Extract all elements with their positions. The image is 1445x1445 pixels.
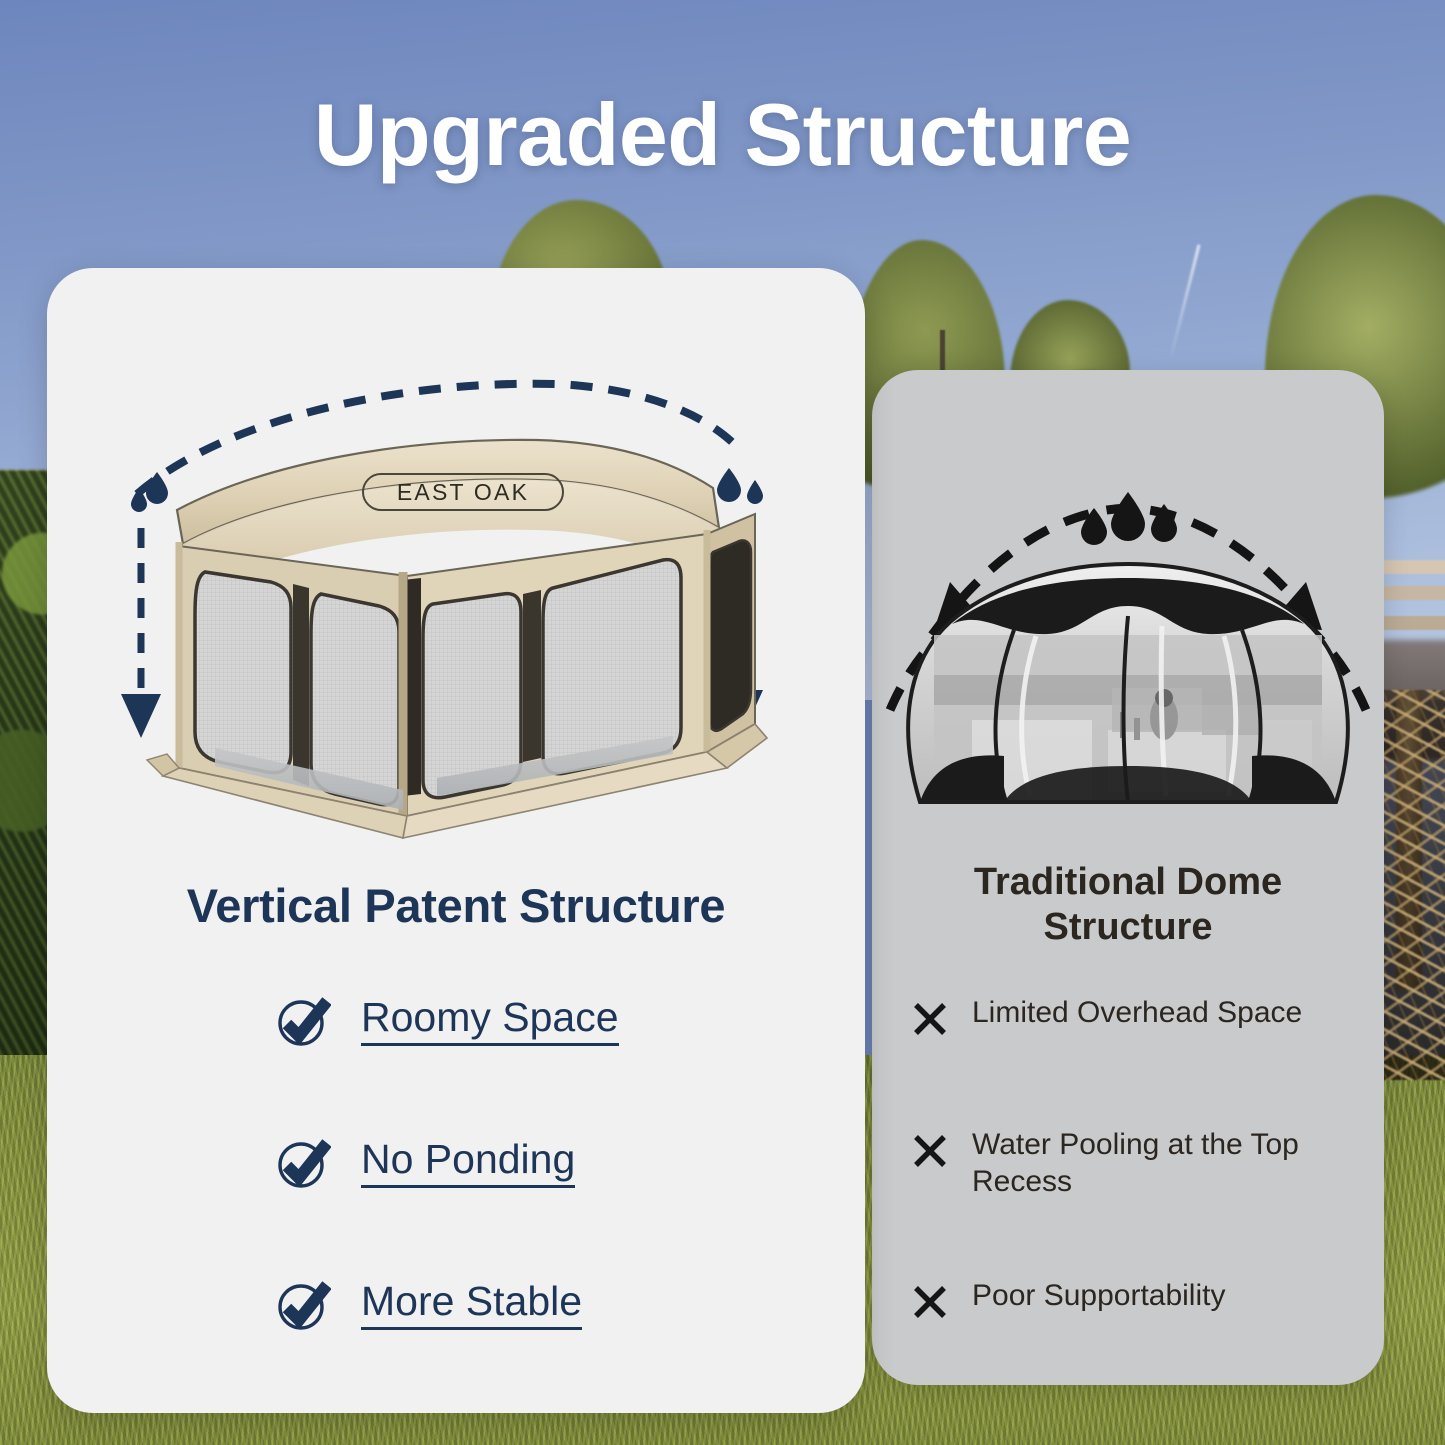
traditional-dome-heading: Traditional Dome Structure	[902, 860, 1354, 950]
page-title: Upgraded Structure	[0, 84, 1445, 186]
x-mark-icon	[910, 1131, 950, 1171]
drawback-label: Poor Supportability	[972, 1278, 1225, 1315]
list-item: Poor Supportability	[910, 1278, 1350, 1332]
x-mark-icon	[910, 999, 950, 1039]
dome-svg	[872, 430, 1384, 850]
traditional-dome-card: Traditional Dome Structure Limited Overh…	[872, 370, 1384, 1385]
vertical-patent-card: EAST OAK	[47, 268, 865, 1413]
dashed-down-arrow-left	[121, 528, 161, 738]
check-circle-icon	[275, 993, 331, 1049]
water-droplets-top	[1081, 492, 1177, 545]
list-item: Water Pooling at the Top Recess	[910, 1127, 1350, 1200]
feature-label: More Stable	[361, 1280, 582, 1330]
tent-drawing: EAST OAK	[107, 376, 807, 886]
tent-body: EAST OAK	[147, 440, 767, 838]
dome-body	[908, 564, 1348, 802]
feature-label: Roomy Space	[361, 996, 619, 1046]
list-item: No Ponding	[275, 1115, 865, 1211]
features-list: Roomy Space No Ponding More Stable	[47, 973, 865, 1353]
list-item: More Stable	[275, 1257, 865, 1353]
check-circle-icon	[275, 1277, 331, 1333]
drawbacks-list: Limited Overhead Space Water Pooling at …	[910, 995, 1350, 1332]
drawback-label: Water Pooling at the Top Recess	[972, 1127, 1350, 1200]
water-droplets-left	[131, 472, 168, 512]
feature-label: No Ponding	[361, 1138, 575, 1188]
vertical-patent-illustration: EAST OAK	[47, 338, 865, 898]
drawback-label: Limited Overhead Space	[972, 995, 1302, 1032]
traditional-dome-illustration	[872, 430, 1384, 850]
x-mark-icon	[910, 1282, 950, 1322]
list-item: Limited Overhead Space	[910, 995, 1350, 1049]
list-item: Roomy Space	[275, 973, 865, 1069]
check-circle-icon	[275, 1135, 331, 1191]
vertical-patent-heading: Vertical Patent Structure	[47, 878, 865, 933]
water-droplets-right	[717, 468, 763, 504]
brand-label: EAST OAK	[397, 479, 529, 505]
tent-svg: EAST OAK	[107, 376, 807, 886]
